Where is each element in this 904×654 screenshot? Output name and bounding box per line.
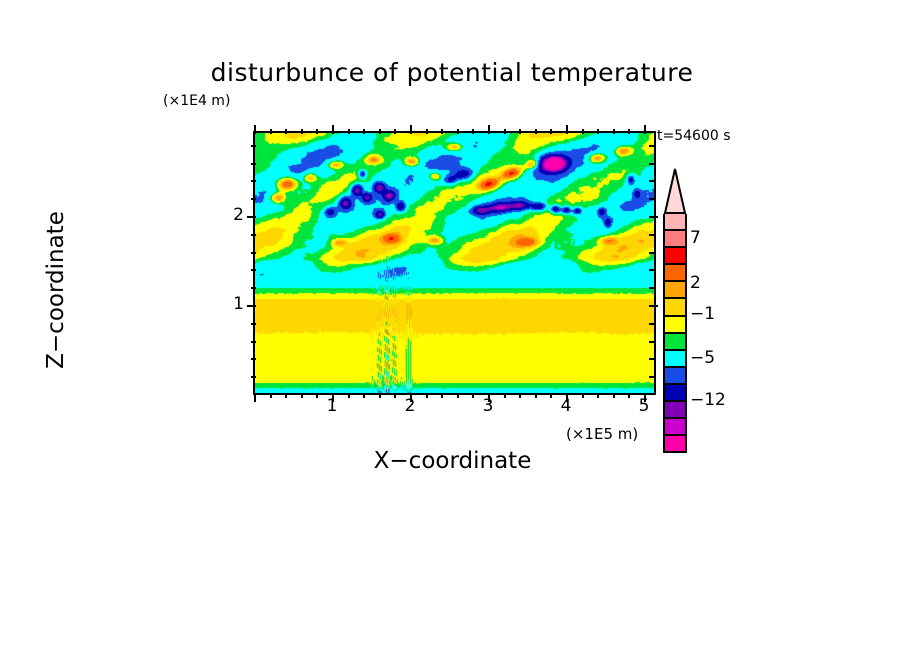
colorbar-arrow-tip-icon: [663, 168, 687, 214]
colorbar-band-purple: [665, 400, 685, 417]
y-axis-major-tick: [649, 216, 658, 218]
x-axis-minor-tick: [426, 393, 428, 398]
y-axis-minor-tick: [649, 234, 654, 236]
y-axis-ticks-right: [649, 131, 661, 395]
x-axis-unit-label: (×1E5 m): [566, 425, 638, 443]
y-axis-tick-labels: 12: [200, 131, 244, 391]
x-axis-minor-tick: [316, 129, 318, 134]
y-axis-minor-tick: [649, 198, 654, 200]
y-axis-tick-label: 2: [214, 205, 244, 225]
colorbar-band-amber: [665, 280, 685, 297]
colorbar-band-orange: [665, 263, 685, 280]
page-title: disturbunce of potential temperature: [0, 58, 904, 87]
y-axis-ticks-left: [244, 131, 256, 395]
y-axis-title: Z−coordinate: [43, 160, 69, 420]
x-axis-major-tick: [410, 125, 412, 134]
y-axis-tick-label: 1: [214, 294, 244, 314]
y-axis-minor-tick: [251, 145, 256, 147]
x-axis-minor-tick: [394, 129, 396, 134]
y-axis-minor-tick: [251, 376, 256, 378]
colorbar-label: −12: [690, 390, 726, 410]
x-axis-ticks-bottom: [253, 393, 656, 405]
colorbar-label: 2: [690, 273, 701, 293]
y-axis-minor-tick: [649, 358, 654, 360]
x-axis-major-tick: [644, 125, 646, 134]
x-axis-minor-tick: [441, 129, 443, 134]
x-axis-minor-tick: [535, 393, 537, 398]
colorbar-band-green: [665, 332, 685, 349]
colorbar-bands: [663, 214, 687, 453]
y-axis-minor-tick: [649, 180, 654, 182]
x-axis-tick-label: 2: [395, 396, 425, 416]
y-axis-minor-tick: [251, 358, 256, 360]
colorbar-band-navy: [665, 383, 685, 400]
y-axis-major-tick: [649, 305, 658, 307]
x-axis-tick-label: 4: [551, 396, 581, 416]
y-axis-minor-tick: [251, 341, 256, 343]
x-axis-ticks-top: [253, 122, 656, 134]
x-axis-minor-tick: [379, 393, 381, 398]
colorbar-band-blue: [665, 366, 685, 383]
y-axis-unit-label: (×1E4 m): [163, 93, 230, 109]
x-axis-major-tick: [566, 125, 568, 134]
x-axis-minor-tick: [457, 129, 459, 134]
x-axis-minor-tick: [426, 129, 428, 134]
contour-field-canvas: [255, 133, 654, 393]
x-axis-minor-tick: [597, 129, 599, 134]
x-axis-tick-label: 1: [317, 396, 347, 416]
x-axis-minor-tick: [270, 393, 272, 398]
y-axis-minor-tick: [649, 252, 654, 254]
colorbar-band-magenta-purple: [665, 417, 685, 434]
x-axis-minor-tick: [504, 393, 506, 398]
y-axis-minor-tick: [251, 163, 256, 165]
x-axis-minor-tick: [348, 393, 350, 398]
y-axis-minor-tick: [649, 145, 654, 147]
x-axis-minor-tick: [285, 393, 287, 398]
colorbar-label: −5: [690, 348, 715, 368]
colorbar-band-cyan: [665, 349, 685, 366]
x-axis-minor-tick: [301, 129, 303, 134]
colorbar-band-salmon: [665, 229, 685, 246]
x-axis-minor-tick: [613, 129, 615, 134]
x-axis-minor-tick: [457, 393, 459, 398]
y-axis-minor-tick: [251, 252, 256, 254]
x-axis-minor-tick: [582, 393, 584, 398]
x-axis-minor-tick: [285, 129, 287, 134]
x-axis-minor-tick: [628, 129, 630, 134]
x-axis-minor-tick: [519, 393, 521, 398]
x-axis-minor-tick: [348, 129, 350, 134]
y-axis-minor-tick: [649, 341, 654, 343]
x-axis-title: X−coordinate: [253, 448, 652, 474]
y-axis-major-tick: [247, 305, 256, 307]
y-axis-minor-tick: [649, 376, 654, 378]
y-axis-minor-tick: [251, 287, 256, 289]
y-axis-minor-tick: [251, 269, 256, 271]
y-axis-minor-tick: [251, 198, 256, 200]
x-axis-minor-tick: [441, 393, 443, 398]
x-axis-minor-tick: [472, 129, 474, 134]
colorbar: [663, 168, 687, 453]
colorbar-band-yellow: [665, 315, 685, 332]
x-axis-minor-tick: [597, 393, 599, 398]
x-axis-minor-tick: [504, 129, 506, 134]
contour-plot-area: [253, 131, 656, 395]
y-axis-minor-tick: [251, 234, 256, 236]
x-axis-minor-tick: [582, 129, 584, 134]
colorbar-label: 7: [690, 228, 701, 248]
x-axis-minor-tick: [613, 393, 615, 398]
x-axis-major-tick: [332, 125, 334, 134]
y-axis-minor-tick: [649, 323, 654, 325]
x-axis-minor-tick: [379, 129, 381, 134]
x-axis-minor-tick: [301, 393, 303, 398]
time-annotation: t=54600 s: [657, 128, 731, 144]
y-axis-minor-tick: [649, 287, 654, 289]
y-axis-major-tick: [247, 216, 256, 218]
x-axis-minor-tick: [550, 129, 552, 134]
x-axis-tick-label: 5: [629, 396, 659, 416]
y-axis-minor-tick: [649, 163, 654, 165]
colorbar-label: −1: [690, 304, 715, 324]
x-axis-minor-tick: [363, 393, 365, 398]
x-axis-minor-tick: [519, 129, 521, 134]
x-axis-minor-tick: [270, 129, 272, 134]
x-axis-tick-label: 3: [473, 396, 503, 416]
colorbar-band-red: [665, 246, 685, 263]
colorbar-band-gold: [665, 297, 685, 314]
y-axis-minor-tick: [649, 269, 654, 271]
x-axis-minor-tick: [363, 129, 365, 134]
x-axis-minor-tick: [535, 129, 537, 134]
y-axis-minor-tick: [251, 180, 256, 182]
y-axis-minor-tick: [251, 323, 256, 325]
x-axis-major-tick: [488, 125, 490, 134]
colorbar-band-pink: [665, 214, 685, 229]
colorbar-band-bright-pink: [665, 434, 685, 451]
